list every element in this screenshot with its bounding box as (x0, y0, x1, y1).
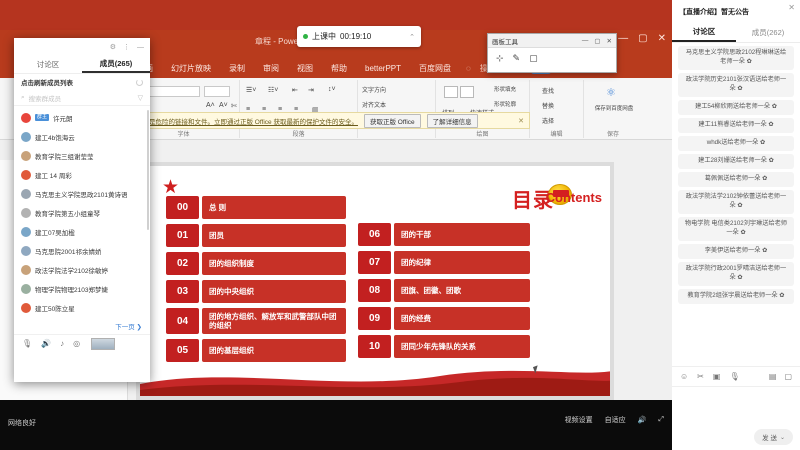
search-icon: ⌕ (21, 94, 25, 102)
tab-help[interactable]: 帮助 (322, 63, 356, 74)
filter-icon[interactable]: ▽ (138, 94, 143, 102)
avatar (21, 208, 31, 218)
clear-format-icon[interactable]: ✄ (231, 102, 237, 110)
toc-number: 07 (358, 251, 391, 274)
ribbon-group-drawing: 排列 快速样式 形状填充 形状轮廓 形状效果 绘图 (436, 80, 530, 138)
toc-number: 03 (166, 280, 199, 303)
avatar (21, 265, 31, 275)
tab-members[interactable]: 成员(265) (82, 56, 150, 73)
mic-icon[interactable]: 🎙 (729, 372, 739, 381)
tab-review[interactable]: 审阅 (254, 63, 288, 74)
numbering-icon[interactable]: ☷˅ (268, 86, 278, 94)
grow-font-icon[interactable]: A˄ (206, 102, 215, 109)
member-name: 教育学院三组谢莹莹 (35, 151, 94, 161)
ppt-window-controls: — ▢ ✕ (618, 34, 666, 44)
toc-number: 00 (166, 196, 199, 219)
avatar (21, 246, 31, 256)
qq-panel-titlebar: ⚙ ⋮ — (14, 38, 150, 56)
shape-gallery-2[interactable] (460, 86, 474, 98)
slide-canvas-area: ★ 目录 Contents 00 总 则 01 团员 02 团的组织制度 (136, 162, 614, 400)
list-item: 建工11熊睿送给老师一朵 ✿ (678, 118, 794, 133)
baidu-cloud-icon[interactable]: ⚛ (606, 86, 616, 99)
ribbon-group-editing: 查找 替换 选择 编辑 (530, 80, 584, 138)
toc-item[interactable]: 07 团的纪律 (358, 251, 530, 274)
chevron-down-icon[interactable]: ⌄ (780, 434, 785, 441)
list-item: 教育学院2组张宇晨送给老师一朵 ✿ (678, 289, 794, 304)
avatar (21, 303, 31, 313)
member-name: 建工07吴加楹 (35, 227, 75, 237)
speaker-icon[interactable]: 🔊 (638, 416, 647, 424)
list-item[interactable]: 政法学院法学2102徐敏婷 (14, 260, 150, 279)
chat-toolbar-right: ▤ ▢ (769, 372, 792, 381)
toc-label: 团的干部 (394, 223, 530, 246)
text-direction-button[interactable]: 文字方向 (362, 85, 386, 94)
toc-item[interactable]: 00 总 则 (166, 196, 346, 219)
next-page-link[interactable]: 下一页 ❯ (115, 321, 142, 331)
list-item[interactable]: 物理学院物理2103郑梦婕 (14, 279, 150, 298)
ribbon-group-save-label: 保存 (584, 129, 642, 138)
gear-icon[interactable]: ⚙ (110, 43, 116, 51)
tab-members[interactable]: 成员(262) (736, 24, 800, 42)
bullets-icon[interactable]: ☰˅ (246, 86, 256, 94)
security-notice-text: 可能是危险的链接和文件。立即通过正版 Office 获取最新的保护文件的安全。 (136, 116, 358, 126)
chat-input-box[interactable] (672, 386, 800, 424)
avatar (21, 151, 31, 161)
toc-item[interactable]: 09 团的经费 (358, 307, 530, 330)
list-item[interactable]: 建工50陈立星 (14, 298, 150, 317)
pen-icon[interactable]: ✎ (513, 53, 521, 64)
fullscreen-icon[interactable]: ⤢ (658, 416, 664, 424)
emoji-icon[interactable]: ☺ (680, 372, 688, 381)
align-text-button[interactable]: 对齐文本 (362, 100, 386, 109)
minimize-icon[interactable]: — (618, 34, 628, 44)
toc-item[interactable]: 08 团旗、团徽、团歌 (358, 279, 530, 302)
camera-preview-thumbnail[interactable] (91, 338, 115, 350)
list-item: 政法学院历史2101张汉语送给老师一朵 ✿ (678, 73, 794, 97)
toc-item[interactable]: 10 团同少年先锋队的关系 (358, 335, 530, 358)
slide-decoration-wave (140, 362, 610, 396)
member-name: 建工 14 周彩 (35, 170, 72, 180)
member-name: 教育学院第五小组童琴 (35, 208, 100, 218)
avatar (21, 284, 31, 294)
video-settings-button[interactable]: 视频设置 (565, 415, 593, 425)
card-icon[interactable]: ▤ (769, 372, 777, 381)
bottom-bar-controls: 视频设置 自适应 🔊 ⤢ (565, 415, 664, 425)
toc-item[interactable]: 05 团的基层组织 (166, 339, 346, 362)
network-status: 网络良好 (8, 418, 36, 428)
chevron-up-icon[interactable]: ⌃ (409, 33, 415, 41)
rectangle-icon[interactable]: ▢ (529, 53, 538, 64)
qq-group-panel: ⚙ ⋮ — 讨论区 成员(265) 点击刷新成员列表 ⌕ 搜索群成员 ▽ 群主 … (14, 38, 150, 382)
replace-button[interactable]: 替换 (542, 101, 554, 110)
list-item: 葛佩佩送给老师一朵 ✿ (678, 172, 794, 187)
live-status-dot (303, 34, 308, 39)
live-announcement: ✕ 【直播介绍】暂无公告 (672, 0, 800, 24)
select-button[interactable]: 选择 (542, 116, 554, 125)
toc-column-left: 00 总 则 01 团员 02 团的组织制度 03 团的中央组织 (166, 196, 346, 362)
close-icon[interactable]: ✕ (788, 3, 795, 12)
avatar (21, 227, 31, 237)
toc-label: 团的中央组织 (202, 280, 346, 303)
font-size-box[interactable] (204, 86, 230, 97)
live-bottom-bar: 网络良好 视频设置 自适应 🔊 ⤢ (0, 400, 672, 450)
member-search-input[interactable]: 搜索群成员 (29, 93, 62, 103)
list-item[interactable]: 马克思主义学院思政2101黄诗语 (14, 184, 150, 203)
toc-label: 团的纪律 (394, 251, 530, 274)
increase-indent-icon[interactable]: ⇥ (308, 86, 314, 94)
list-item: 政法学院法学2102钟依蕾送给老师一朵 ✿ (678, 190, 794, 214)
avatar (21, 113, 31, 123)
get-genuine-office-button[interactable]: 获取正版 Office (364, 114, 421, 128)
minimize-icon[interactable]: — (137, 44, 144, 51)
ribbon-group-paragraph: ☰˅ ☷˅ ⇤ ⇥ ↕˅ ≡ ≡ ≡ ≡ ▥ 段落 (240, 80, 358, 138)
toc-number: 02 (166, 252, 199, 275)
toc-column-right: 06 团的干部 07 团的纪律 08 团旗、团徽、团歌 09 团的经费 (358, 223, 530, 358)
tab-record[interactable]: 录制 (220, 63, 254, 74)
shrink-font-icon[interactable]: A˅ (219, 102, 228, 109)
music-icon[interactable]: ♪ (60, 339, 64, 348)
qq-panel-bottom-toolbar: 🎙 🔊 ♪ ◎ (14, 334, 150, 352)
member-name: 政法学院法学2102徐敏婷 (35, 265, 108, 275)
refresh-member-list-label: 点击刷新成员列表 (21, 77, 73, 87)
ribbon-group-save: ⚛ 保存到百度网盘 保存 (584, 80, 642, 138)
member-name: 马克思院2001祁余婧娇 (35, 246, 101, 256)
toc-label: 团的组织制度 (202, 252, 346, 275)
screen-root: 章程 - PowerPoint — ▢ ✕ 动画 幻灯片放映 录制 审阅 视图 … (0, 0, 800, 450)
more-icon[interactable]: ⋮ (123, 43, 130, 51)
list-item[interactable]: 群主 许元朗 (14, 108, 150, 127)
list-item: 建工28刘姗送给老师一朵 ✿ (678, 154, 794, 169)
red-star-icon: ★ (162, 178, 179, 197)
chat-toolbar: ☺ ✂ ▣ 🎙 ▤ ▢ (672, 366, 800, 386)
live-class-timer[interactable]: 上课中 00:19:10 ⌃ (297, 26, 421, 47)
minimize-icon[interactable]: — (582, 37, 589, 45)
toc-number: 10 (358, 335, 391, 358)
ribbon-group-paragraph-label: 段落 (240, 129, 357, 138)
toc-item[interactable]: 02 团的组织制度 (166, 252, 346, 275)
settings-icon[interactable]: ◎ (73, 339, 80, 348)
toc-label: 团的地方组织、解放军和武警部队中团的组织 (202, 308, 346, 334)
shape-outline-button[interactable]: 形状轮廓 (494, 100, 516, 108)
live-elapsed-time: 00:19:10 (340, 32, 371, 41)
drawing-tools-title: 画板工具 (492, 36, 518, 46)
shape-fill-button[interactable]: 形状填充 (494, 85, 516, 93)
toc-number: 06 (358, 223, 391, 246)
send-button[interactable]: 发 送 ⌄ (754, 429, 793, 445)
tab-slideshow[interactable]: 幻灯片放映 (162, 63, 220, 74)
find-button[interactable]: 查找 (542, 86, 554, 95)
list-item: 政法学院行政2001罗晴洁送给老师一朵 ✿ (678, 262, 794, 286)
toc-label: 团的经费 (394, 307, 530, 330)
image-icon[interactable]: ▣ (713, 372, 721, 381)
toc-number: 09 (358, 307, 391, 330)
toc-label: 团的基层组织 (202, 339, 346, 362)
toc-label: 团员 (202, 224, 346, 247)
scissors-icon[interactable]: ✂ (697, 372, 704, 381)
avatar (21, 132, 31, 142)
tab-baidu-netdisk[interactable]: 百度网盘 (410, 63, 460, 74)
close-icon[interactable]: ✕ (607, 37, 612, 45)
toc-number: 05 (166, 339, 199, 362)
list-item[interactable]: 教育学院三组谢莹莹 (14, 146, 150, 165)
toc-number: 08 (358, 279, 391, 302)
member-role-tag: 群主 (35, 114, 49, 121)
list-item: 李美伊送给老师一朵 ✿ (678, 244, 794, 259)
refresh-member-list-row[interactable]: 点击刷新成员列表 (14, 74, 150, 90)
line-spacing-icon[interactable]: ↕˅ (328, 86, 336, 93)
member-name: 物理学院物理2103郑梦婕 (35, 284, 108, 294)
tab-view[interactable]: 视图 (288, 63, 322, 74)
drawing-tools-window-controls: — ▢ ✕ (582, 37, 612, 45)
ribbon-group-drawing-label: 绘图 (436, 129, 529, 138)
current-slide[interactable]: ★ 目录 Contents 00 总 则 01 团员 02 团的组织制度 (140, 166, 610, 396)
member-name: 建工50陈立星 (35, 303, 75, 313)
member-list[interactable]: 群主 许元朗 建工4b饱海云 教育学院三组谢莹莹 建工 14 周彩 马克思主义学… (14, 106, 150, 318)
ribbon-group-editing-label: 编辑 (530, 129, 583, 138)
drawing-tools-window: 画板工具 — ▢ ✕ ⊹ ✎ ▢ (487, 33, 617, 73)
slide-heading-en: Contents (546, 190, 602, 205)
chat-message-list[interactable]: 马克思主义学院思政2102程琳琳送给老师一朵 ✿ 政法学院历史2101张汉语送给… (672, 43, 800, 366)
tab-betterppt[interactable]: betterPPT (356, 64, 410, 73)
avatar (21, 170, 31, 180)
avatar (21, 189, 31, 199)
toc-label: 总 则 (202, 196, 346, 219)
pointer-icon[interactable]: ⊹ (496, 53, 504, 64)
list-item: 建工54柳欣雨送给老师一朵 ✿ (678, 100, 794, 115)
speaker-icon[interactable]: 🔊 (41, 339, 51, 348)
toc-item[interactable]: 03 团的中央组织 (166, 280, 346, 303)
learn-more-button[interactable]: 了解详细信息 (427, 114, 478, 128)
member-search-row[interactable]: ⌕ 搜索群成员 ▽ (14, 90, 150, 106)
chat-send-row: 发 送 ⌄ (672, 424, 800, 450)
member-name: 建工4b饱海云 (35, 132, 75, 142)
save-to-baidu-button[interactable]: 保存到百度网盘 (590, 104, 638, 112)
toc-label: 团同少年先锋队的关系 (394, 335, 530, 358)
toc-number: 04 (166, 308, 199, 334)
send-button-label: 发 送 (762, 432, 777, 442)
drawing-tools-row: ⊹ ✎ ▢ (488, 48, 616, 69)
loading-spinner-icon (136, 79, 143, 86)
list-item: 物电学院 电信类2102刘宇琳送给老师一朵 ✿ (678, 217, 794, 241)
maximize-icon[interactable]: ▢ (638, 34, 647, 44)
toc-item[interactable]: 04 团的地方组织、解放军和武警部队中团的组织 (166, 308, 346, 334)
tab-discussion[interactable]: 讨论区 (672, 24, 736, 42)
mic-icon[interactable]: 🎙 (22, 339, 32, 348)
adaptive-quality-button[interactable]: 自适应 (605, 415, 626, 425)
decrease-indent-icon[interactable]: ⇤ (292, 86, 298, 94)
toc-number: 01 (166, 224, 199, 247)
close-notice-icon[interactable]: ✕ (518, 117, 524, 125)
office-security-notice: 可能是危险的链接和文件。立即通过正版 Office 获取最新的保护文件的安全。 … (130, 112, 530, 129)
member-name: 马克思主义学院思政2101黄诗语 (35, 189, 127, 199)
comment-icon[interactable]: ▢ (784, 372, 792, 381)
toc-label: 团旗、团徽、团歌 (394, 279, 530, 302)
member-list-scrollbar[interactable] (147, 110, 149, 230)
live-chat-panel: ✕ 【直播介绍】暂无公告 讨论区 成员(262) 马克思主义学院思政2102程琳… (672, 0, 800, 450)
chat-panel-tabs: 讨论区 成员(262) (672, 24, 800, 43)
member-name: 许元朗 (53, 113, 73, 123)
search-icon[interactable]: ◌ (460, 64, 471, 73)
list-item[interactable]: 教育学院第五小组童琴 (14, 203, 150, 222)
toc-item[interactable]: 06 团的干部 (358, 223, 530, 246)
list-item[interactable]: 马克思院2001祁余婧娇 (14, 241, 150, 260)
shape-gallery[interactable] (444, 86, 458, 98)
list-item[interactable]: 建工07吴加楹 (14, 222, 150, 241)
qq-panel-tabs: 讨论区 成员(265) (14, 56, 150, 74)
list-item[interactable]: 建工4b饱海云 (14, 127, 150, 146)
ribbon-group-text-layout: 文字方向 对齐文本 转换为 SmartArt (358, 80, 436, 138)
list-item: whdk送给老师一朵 ✿ (678, 136, 794, 151)
next-page-row[interactable]: 下一页 ❯ (14, 318, 150, 334)
tab-discussion[interactable]: 讨论区 (14, 56, 82, 73)
list-item[interactable]: 教育学院国园园张欣欣 (14, 317, 150, 318)
toc-item[interactable]: 01 团员 (166, 224, 346, 247)
list-item[interactable]: 建工 14 周彩 (14, 165, 150, 184)
live-status-text: 上课中 (312, 31, 336, 42)
close-icon[interactable]: ✕ (658, 34, 666, 44)
maximize-icon[interactable]: ▢ (594, 37, 600, 45)
list-item: 马克思主义学院思政2102程琳琳送给老师一朵 ✿ (678, 46, 794, 70)
drawing-tools-title-bar: 画板工具 — ▢ ✕ (488, 34, 616, 48)
announcement-text: 【直播介绍】暂无公告 (679, 8, 793, 18)
